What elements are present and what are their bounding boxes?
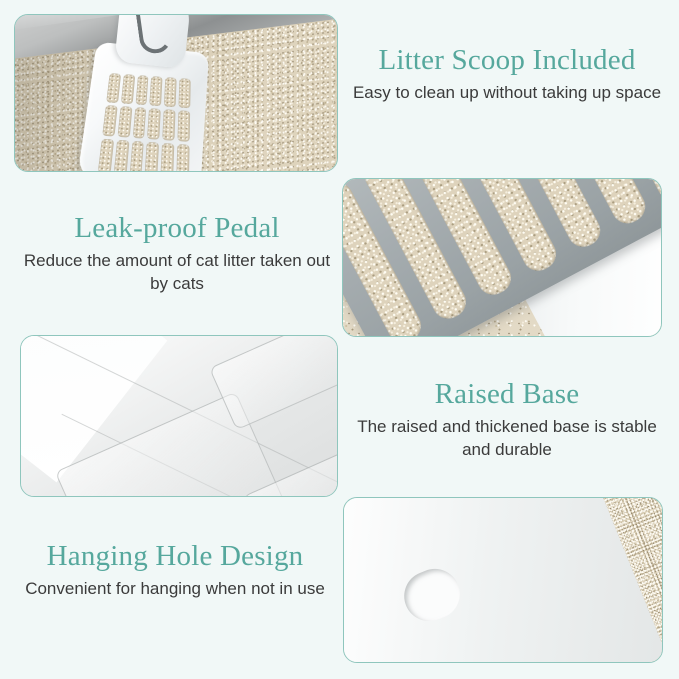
litter-scoop-photo (15, 15, 337, 171)
feature-text-hanging-hole: Hanging Hole Design Convenient for hangi… (12, 540, 338, 601)
scoop-slot (164, 77, 177, 107)
scoop-slot (102, 105, 117, 137)
scoop-slot-grid (98, 73, 191, 171)
feature-text-leak-proof-pedal: Leak-proof Pedal Reduce the amount of ca… (18, 212, 336, 295)
feature-headline-hanging-hole: Hanging Hole Design (12, 540, 338, 572)
feature-subtext-litter-scoop: Easy to clean up without taking up space (348, 82, 666, 104)
hanging-hole-photo (344, 498, 662, 662)
scoop-slot (176, 144, 189, 171)
image-panel-leak-proof-pedal (342, 178, 662, 337)
scoop-slot (98, 139, 114, 171)
feature-headline-leak-proof-pedal: Leak-proof Pedal (18, 212, 336, 244)
scoop-slot (113, 140, 129, 171)
scoop-slot (161, 143, 175, 171)
scoop-slot-column (176, 78, 190, 171)
leak-proof-pedal-photo (343, 179, 661, 336)
feature-subtext-raised-base: The raised and thickened base is stable … (352, 416, 662, 461)
scoop-slot (147, 108, 161, 140)
litter-scoop (71, 15, 223, 171)
scoop-slot (135, 75, 149, 105)
scoop-slot (178, 110, 191, 142)
feature-subtext-hanging-hole: Convenient for hanging when not in use (12, 578, 338, 600)
scoop-slot (145, 142, 159, 171)
feature-headline-raised-base: Raised Base (352, 378, 662, 410)
image-panel-raised-base (20, 335, 338, 497)
scoop-slot (129, 141, 144, 171)
feature-subtext-leak-proof-pedal: Reduce the amount of cat litter taken ou… (18, 250, 336, 295)
scoop-slot (132, 107, 146, 139)
scoop-slot (150, 76, 163, 106)
scoop-slot (179, 78, 191, 108)
scoop-slot-column (161, 77, 177, 171)
feature-text-raised-base: Raised Base The raised and thickened bas… (352, 378, 662, 461)
scoop-slot (106, 73, 121, 103)
scoop-slot (117, 106, 132, 138)
product-feature-collage: Litter Scoop Included Easy to clean up w… (0, 0, 679, 679)
image-panel-litter-scoop (14, 14, 338, 172)
scoop-slot (121, 74, 135, 104)
image-panel-hanging-hole (343, 497, 663, 663)
scoop-slot (163, 109, 176, 141)
feature-headline-litter-scoop: Litter Scoop Included (348, 44, 666, 76)
raised-base-photo (21, 336, 337, 496)
feature-text-litter-scoop: Litter Scoop Included Easy to clean up w… (348, 44, 666, 105)
